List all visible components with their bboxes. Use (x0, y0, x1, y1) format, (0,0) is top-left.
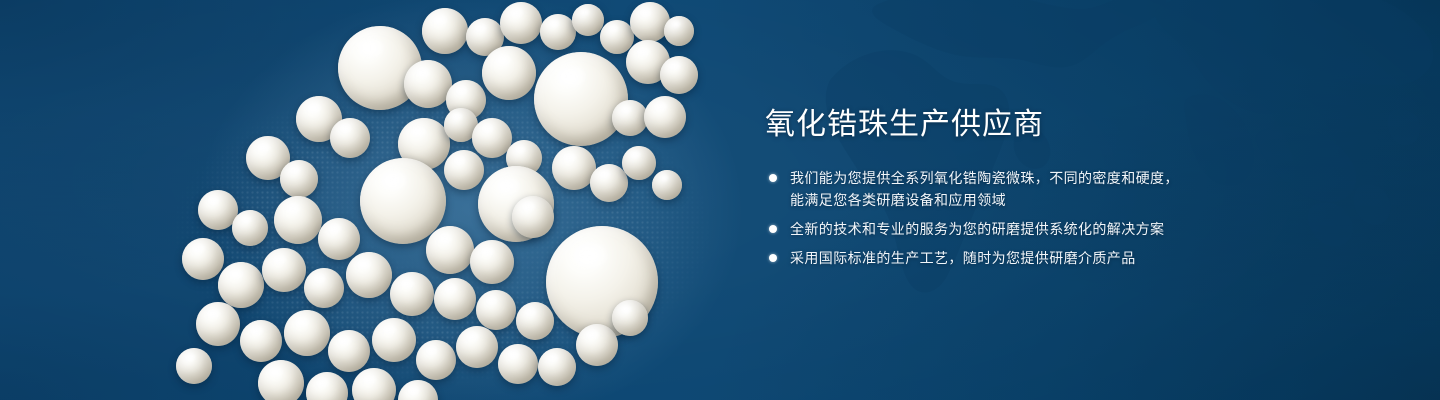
page-title: 氧化锆珠生产供应商 (765, 105, 1285, 145)
list-item-line1: 采用国际标准的生产工艺，随时为您提供研磨介质产品 (790, 250, 1136, 266)
bullet-dot-icon (769, 174, 777, 182)
list-item-line1: 我们能为您提供全系列氧化锆陶瓷微珠，不同的密度和硬度， (790, 170, 1179, 186)
bullet-dot-icon (769, 254, 777, 262)
list-item: 我们能为您提供全系列氧化锆陶瓷微珠，不同的密度和硬度， 能满足您各类研磨设备和应… (765, 167, 1285, 211)
list-item: 采用国际标准的生产工艺，随时为您提供研磨介质产品 (765, 247, 1285, 269)
list-item-line1: 全新的技术和专业的服务为您的研磨提供系统化的解决方案 (790, 221, 1164, 237)
feature-list: 我们能为您提供全系列氧化锆陶瓷微珠，不同的密度和硬度， 能满足您各类研磨设备和应… (765, 167, 1285, 269)
list-item: 全新的技术和专业的服务为您的研磨提供系统化的解决方案 (765, 218, 1285, 240)
hero-banner: 氧化锆珠生产供应商 我们能为您提供全系列氧化锆陶瓷微珠，不同的密度和硬度， 能满… (0, 0, 1440, 400)
list-item-line2: 能满足您各类研磨设备和应用领域 (790, 189, 1285, 211)
banner-copy: 氧化锆珠生产供应商 我们能为您提供全系列氧化锆陶瓷微珠，不同的密度和硬度， 能满… (765, 105, 1285, 276)
bullet-dot-icon (769, 225, 777, 233)
